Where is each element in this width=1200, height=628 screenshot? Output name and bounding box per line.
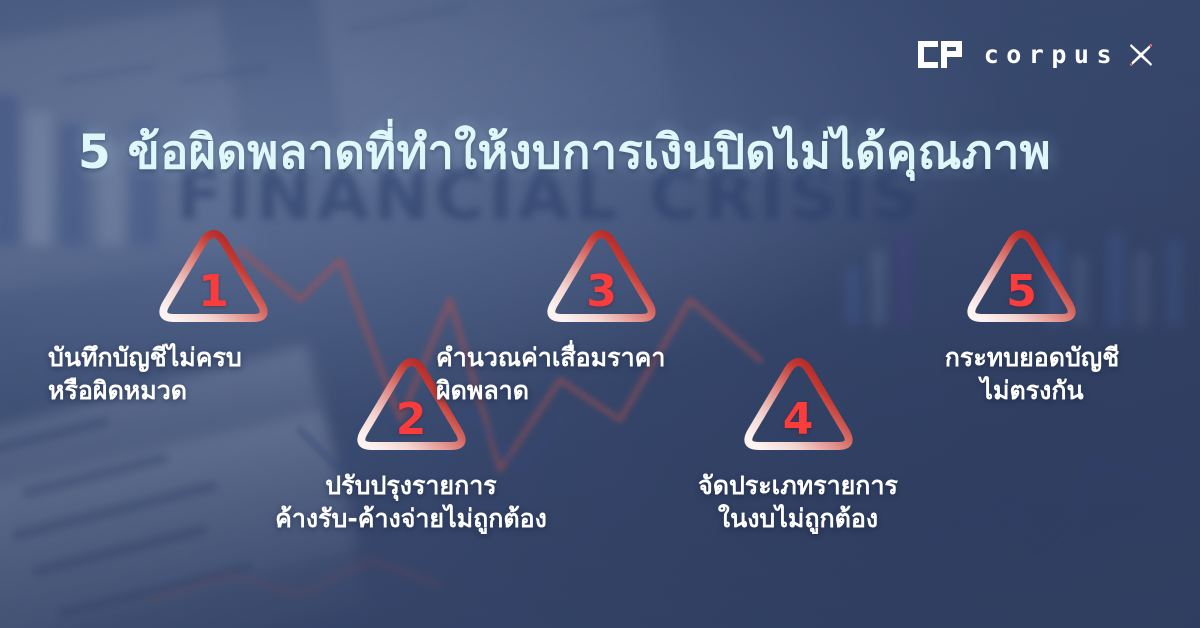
triangle-wrap: 3	[436, 228, 736, 328]
x-icon	[1128, 42, 1154, 68]
mistake-caption: ปรับปรุงรายการ ค้างรับ-ค้างจ่ายไม่ถูกต้อ…	[236, 470, 586, 535]
cp-monogram-icon	[918, 41, 962, 68]
brand-logo[interactable]: corpus	[918, 40, 1154, 69]
page-title: 5 ข้อผิดพลาดที่ทำให้งบการเงินปิดไม่ได้คุ…	[78, 114, 1051, 189]
mistake-caption: จัดประเภทรายการ ในงบไม่ถูกต้อง	[648, 470, 948, 535]
triangle-wrap: 5	[892, 228, 1172, 328]
triangle-holder: 4	[741, 356, 856, 456]
mistake-number: 1	[156, 270, 271, 314]
mistake-number: 4	[741, 398, 856, 442]
triangle-holder: 3	[544, 228, 659, 328]
triangle-holder: 1	[156, 228, 271, 328]
brand-name-text: corpus	[984, 40, 1119, 69]
triangle-wrap: 1	[48, 228, 348, 328]
triangle-holder: 5	[964, 228, 1079, 328]
mistake-number: 3	[544, 270, 659, 314]
poster-content: corpus 5 ข้อผิดพลาดที่ทำให้งบการเงินปิดไ…	[0, 0, 1200, 628]
mistake-number: 5	[964, 270, 1079, 314]
mistake-item-5: 5 กระทบยอดบัญชี ไม่ตรงกัน	[892, 228, 1172, 407]
brand-wordmark: corpus	[984, 40, 1154, 69]
mistake-caption: กระทบยอดบัญชี ไม่ตรงกัน	[892, 342, 1172, 407]
